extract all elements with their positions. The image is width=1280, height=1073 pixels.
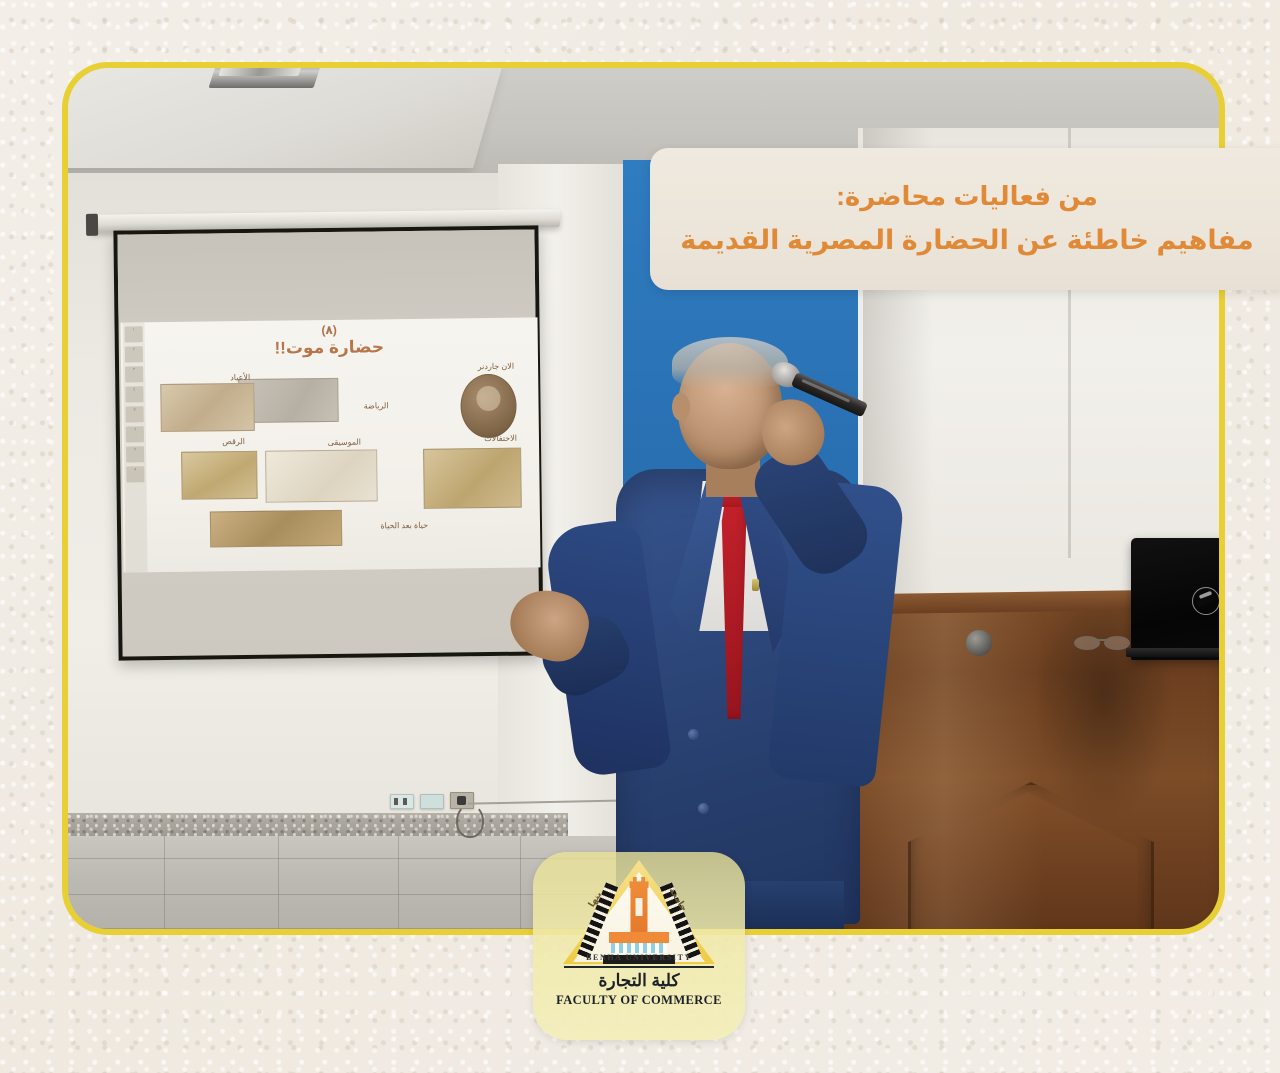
crest-crossbar: [609, 932, 669, 943]
light-switch: [390, 794, 414, 809]
slide-thumb-dance: [181, 451, 258, 500]
banner-line-1: من فعاليات محاضرة:: [836, 180, 1098, 214]
slide-label-music: الموسيقى: [328, 438, 361, 447]
benha-university-crest-icon: بنها جامعة BENHA UNIVERSITY: [563, 860, 715, 964]
jacket-button: [688, 729, 699, 740]
faculty-name-arabic: كلية التجارة: [599, 971, 680, 991]
slide-thumb-afterlife: [210, 510, 342, 548]
laptop: [1131, 538, 1219, 660]
filmstrip-item: ٧: [126, 446, 144, 462]
laptop-base: [1126, 648, 1219, 657]
speaker-person: [538, 333, 928, 923]
filmstrip-item: ١: [125, 326, 143, 342]
projection-screen: ١ ٢ ٣ ٤ ٥ ٦ ٧ ٨ (٨) حضارة موت!! الان جار…: [113, 225, 543, 660]
faculty-logo-badge: بنها جامعة BENHA UNIVERSITY كلية التجارة…: [533, 852, 745, 1040]
crest-water-waves-icon: [611, 943, 667, 953]
screen-housing-endcap: [86, 214, 98, 236]
slide-thumb-music: [265, 449, 378, 502]
filmstrip-item: ٥: [126, 406, 144, 422]
hair: [672, 337, 788, 389]
filmstrip-item: ٤: [125, 386, 143, 402]
filmstrip-item: ٣: [125, 366, 143, 382]
light-switch-secondary: [420, 794, 444, 809]
crest-university-text: BENHA UNIVERSITY: [563, 953, 715, 962]
filmstrip-item: ٢: [125, 346, 143, 362]
eyeglasses-right-lens: [1104, 636, 1130, 650]
ear: [672, 393, 690, 421]
slide-filmstrip: ١ ٢ ٣ ٤ ٥ ٦ ٧ ٨: [123, 322, 148, 572]
filmstrip-item: ٦: [126, 426, 144, 442]
slide-thumb-feasts: [160, 383, 255, 432]
slide-portrait-photo: [460, 374, 517, 439]
eyeglasses: [1074, 636, 1132, 649]
slide-title: حضارة موت!!: [274, 337, 384, 358]
lapel-pin: [752, 579, 759, 591]
faculty-name-english: FACULTY OF COMMERCE: [556, 993, 722, 1008]
power-cable-loop: [456, 804, 484, 838]
logo-divider: [564, 966, 714, 968]
slide-label-dance: الرقص: [222, 437, 245, 446]
banner-line-2: مفاهيم خاطئة عن الحضارة المصرية القديمة: [680, 223, 1253, 258]
slide-label-gardiner: الان جاردنر: [478, 362, 514, 371]
eyeglasses-bridge: [1097, 639, 1106, 641]
filmstrip-item: ٨: [126, 466, 144, 482]
slide-label-feasts: الأعياد: [230, 373, 250, 382]
presentation-slide: ١ ٢ ٣ ٤ ٥ ٦ ٧ ٨ (٨) حضارة موت!! الان جار…: [121, 317, 541, 572]
slide-label-sport: الرياضة: [364, 401, 389, 410]
screen-upper-area: [117, 229, 535, 326]
slide-label-celebrations: الاحتفالات: [484, 434, 517, 443]
slide-number: (٨): [321, 323, 336, 337]
slide-thumb-celebrations: [423, 448, 522, 509]
jacket-button: [698, 803, 709, 814]
slide-label-afterlife: حياة بعد الحياة: [380, 521, 428, 531]
dell-logo-icon: [1192, 587, 1219, 615]
ceiling-light-fixture: [208, 68, 322, 88]
title-banner: من فعاليات محاضرة: مفاهيم خاطئة عن الحضا…: [650, 148, 1280, 290]
microphone-stand-knob: [966, 630, 992, 656]
